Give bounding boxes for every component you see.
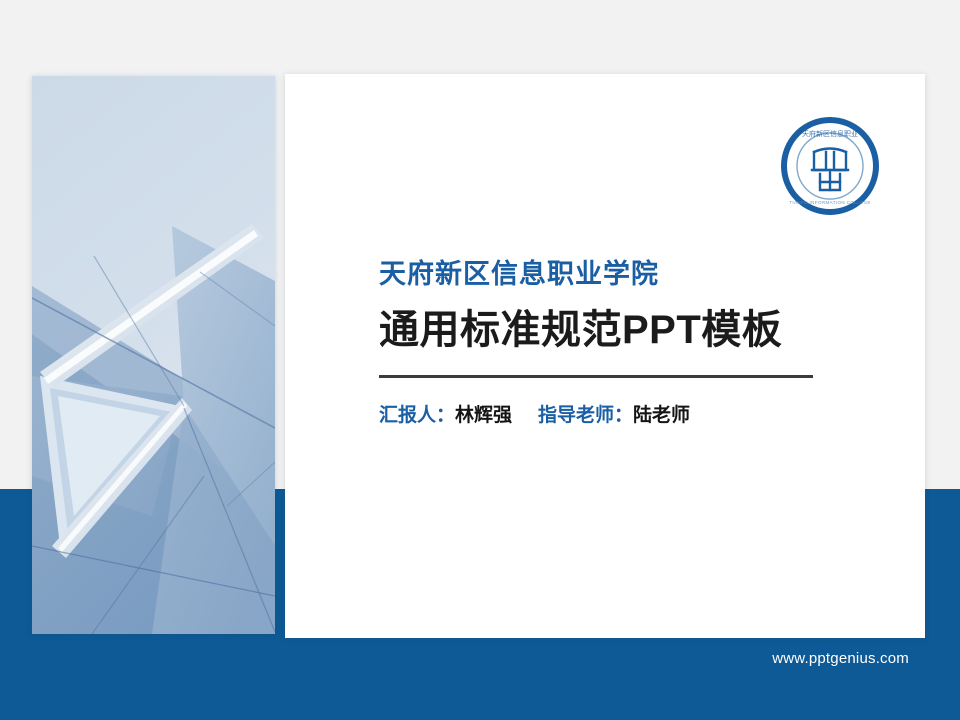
- school-name: 天府新区信息职业学院: [379, 258, 839, 292]
- title-text-block: 天府新区信息职业学院 通用标准规范PPT模板 汇报人：林辉强指导老师：陆老师: [379, 258, 839, 428]
- byline: 汇报人：林辉强指导老师：陆老师: [379, 404, 839, 429]
- college-seal-icon: 天府新区信息职业 TIANFU INFORMATION COLLEGE: [776, 112, 884, 220]
- svg-text:TIANFU INFORMATION COLLEGE: TIANFU INFORMATION COLLEGE: [789, 200, 871, 205]
- svg-text:天府新区信息职业: 天府新区信息职业: [802, 129, 858, 138]
- presentation-title-slide: 天府新区信息职业 TIANFU INFORMATION COLLEGE 天府新区…: [0, 0, 960, 720]
- page-title: 通用标准规范PPT模板: [379, 306, 839, 354]
- architecture-ceiling-panels-photo: [32, 76, 275, 634]
- presenter-label: 汇报人：: [379, 405, 455, 426]
- title-divider: [379, 375, 813, 378]
- photo-artwork: [32, 76, 275, 634]
- advisor-name: 陆老师: [633, 405, 690, 426]
- footer-url: www.pptgenius.com: [772, 650, 909, 667]
- advisor-label: 指导老师：: [538, 405, 633, 426]
- presenter-name: 林辉强: [455, 405, 512, 426]
- college-logo: 天府新区信息职业 TIANFU INFORMATION COLLEGE: [776, 112, 884, 220]
